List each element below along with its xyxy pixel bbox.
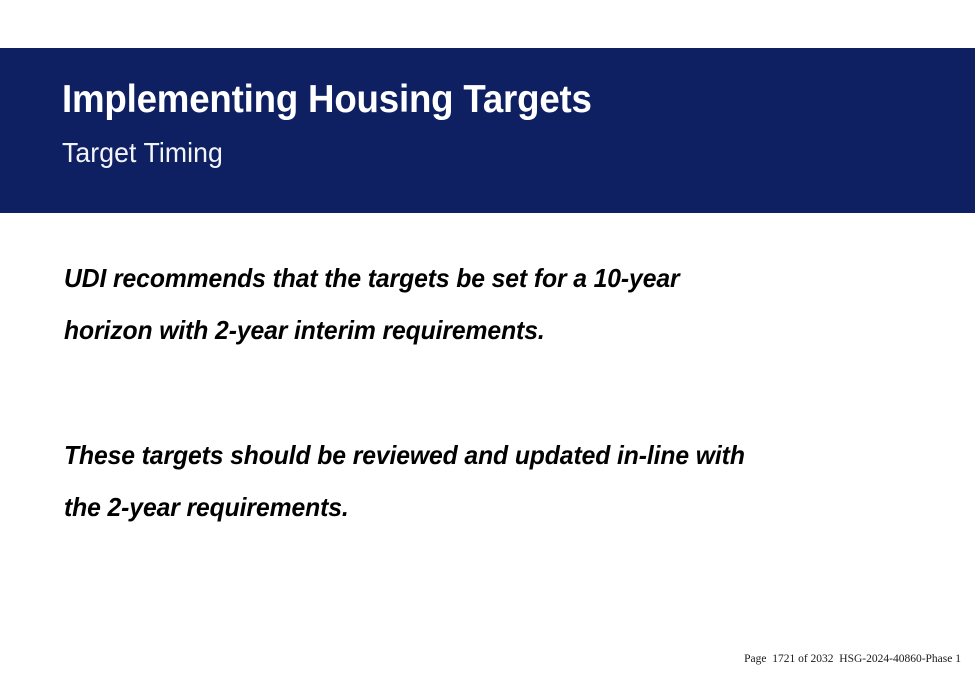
header-band: Implementing Housing Targets Target Timi… [0, 48, 975, 213]
paragraph-2-line-2: the 2-year requirements. [64, 481, 881, 533]
footer-page-reference: Page 1721 of 2032 HSG-2024-40860-Phase 1 [744, 652, 961, 666]
paragraph-1-line-1: UDI recommends that the targets be set f… [64, 252, 881, 304]
page-subtitle: Target Timing [62, 136, 223, 170]
paragraph-spacer [64, 356, 924, 429]
slide-canvas: Implementing Housing Targets Target Timi… [0, 0, 975, 676]
body-content: UDI recommends that the targets be set f… [64, 252, 924, 533]
paragraph-2-line-1: These targets should be reviewed and upd… [64, 429, 881, 481]
page-title: Implementing Housing Targets [62, 77, 592, 123]
paragraph-1-line-2: horizon with 2-year interim requirements… [64, 304, 881, 356]
